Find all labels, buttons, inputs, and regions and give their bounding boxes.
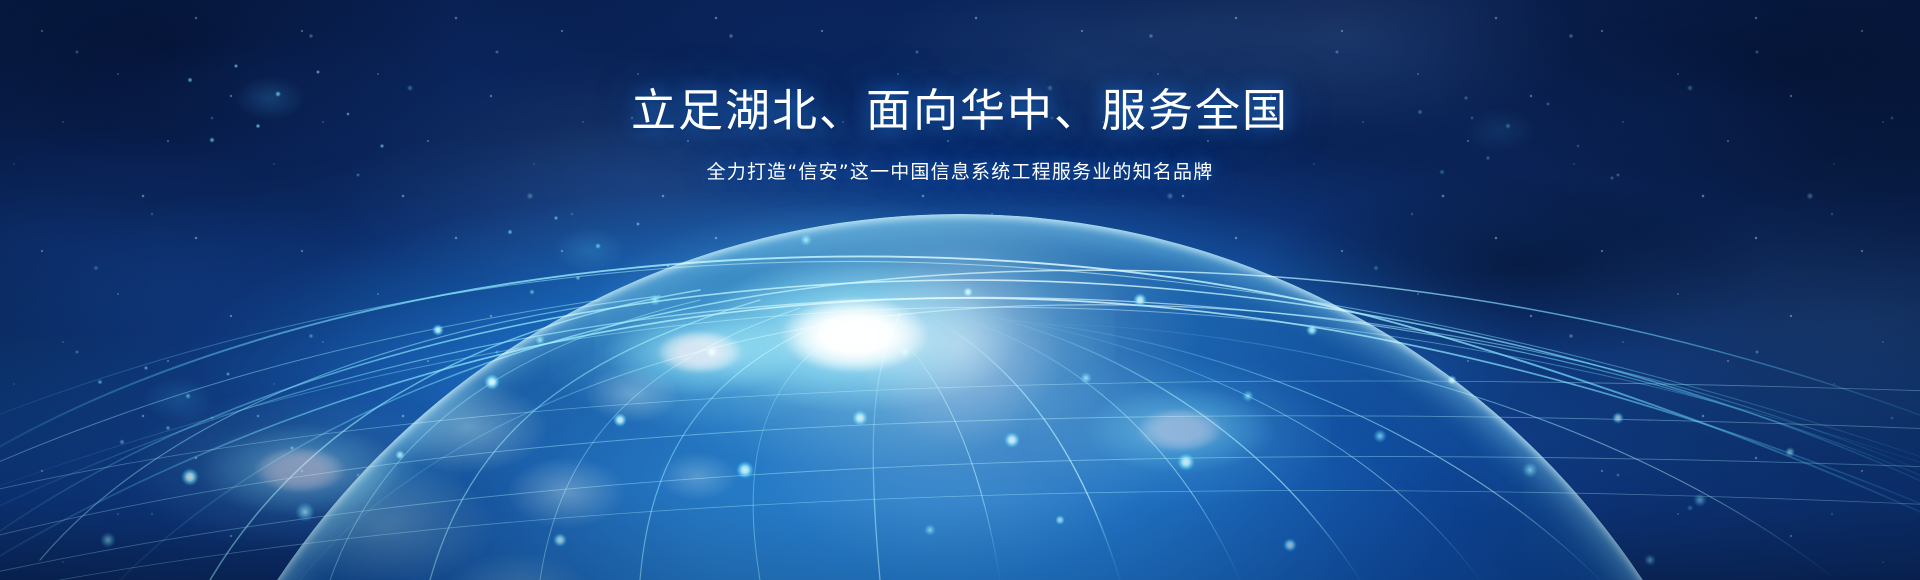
banner-headline: 立足湖北、面向华中、服务全国 <box>0 0 1920 136</box>
glow-burst-center <box>595 185 1115 485</box>
hero-banner: 立足湖北、面向华中、服务全国 全力打造“信安”这一中国信息系统工程服务业的知名品… <box>0 0 1920 580</box>
banner-content: 立足湖北、面向华中、服务全国 全力打造“信安”这一中国信息系统工程服务业的知名品… <box>0 0 1920 187</box>
banner-subheadline: 全力打造“信安”这一中国信息系统工程服务业的知名品牌 <box>0 136 1920 187</box>
glow-burst-left <box>140 380 460 560</box>
